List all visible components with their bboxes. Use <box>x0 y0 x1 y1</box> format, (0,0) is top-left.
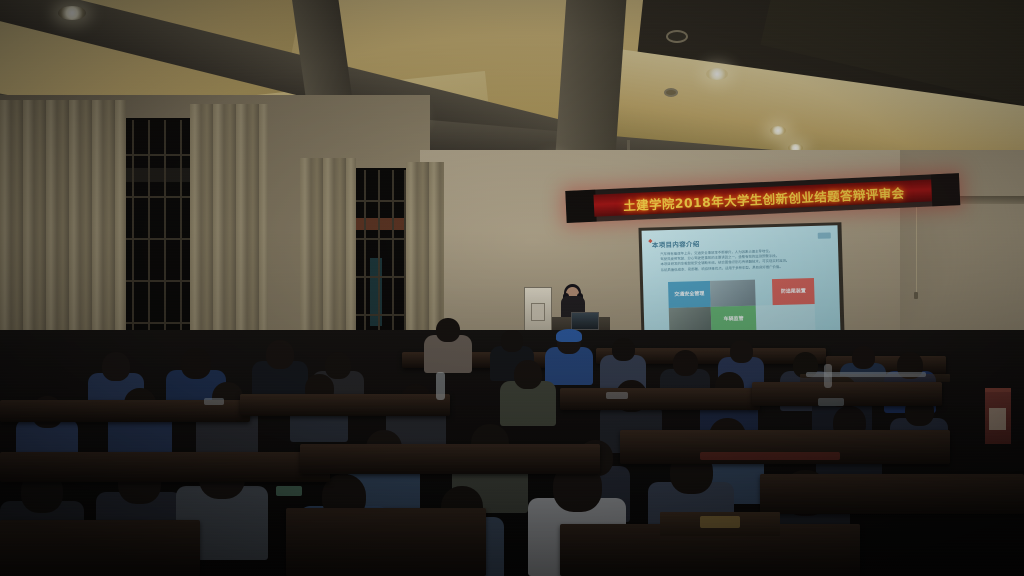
hanging-cord-weight <box>914 292 918 299</box>
slide-tile-green: 车辆监管 <box>711 306 757 333</box>
audience-person-head <box>501 330 523 352</box>
auditorium-photo: 土建学院2018年大学生创新创业结题答辩评审会 本项目内容介绍 汽车保有量逐年上… <box>0 0 1024 576</box>
window-grille-bar <box>120 196 200 198</box>
audience-person-head <box>436 318 460 342</box>
slide-logo-icon <box>818 232 831 238</box>
ceiling-downlight-icon <box>58 6 86 20</box>
audience-person-head <box>266 340 294 369</box>
ceiling-downlight-icon <box>770 126 786 135</box>
window-grille-bar <box>352 200 412 202</box>
projection-screen: 本项目内容介绍 汽车保有量逐年上升，交通安全事故率不断攀升，人为因素占据主导地位… <box>642 225 841 336</box>
paper-glint <box>276 486 302 496</box>
bottle-highlight <box>824 364 832 388</box>
window-grille-bar <box>120 238 200 240</box>
desk-item-highlight <box>700 516 740 528</box>
slide-tile-blue: 交通安全管理 <box>668 281 711 308</box>
paper-glint <box>818 398 844 406</box>
window-grille-bar <box>120 154 200 156</box>
slide-tile-photo <box>710 280 756 307</box>
audience-person-head <box>514 360 542 389</box>
audience-person-cap <box>556 329 582 342</box>
bench-row <box>560 388 760 410</box>
ceiling-downlight-icon <box>706 68 728 80</box>
window-grille-bar <box>352 238 412 240</box>
slide-tile-blank <box>756 304 816 332</box>
electrical-cabinet-panel <box>531 303 545 321</box>
audience-person-head <box>612 338 635 361</box>
audience-person-head <box>102 352 130 381</box>
bench-row <box>0 452 330 482</box>
led-banner-text: 土建学院2018年大学生创新创业结题答辩评审会 <box>623 182 905 214</box>
slide-body-text: 汽车保有量逐年上升，交通安全事故率不断攀升，人为因素占据主导地位。 驾驶员疲劳驾… <box>660 248 829 273</box>
slide-title: 本项目内容介绍 <box>652 238 700 249</box>
bottle-highlight <box>436 372 445 400</box>
bench-row <box>240 394 450 416</box>
audience-person-head <box>181 348 211 379</box>
slide-tile-red: 防追尾装置 <box>772 278 815 305</box>
audience-person-head <box>673 350 698 376</box>
waste-bin-label <box>989 408 1006 430</box>
window-glow <box>126 168 194 182</box>
window-grille-bar <box>352 276 412 278</box>
paper-glint <box>606 392 628 399</box>
bench-row <box>760 474 1024 514</box>
audience-person-head <box>730 340 753 363</box>
podium-laptop <box>571 312 599 330</box>
audience-person-head <box>325 352 351 379</box>
paper-glint <box>204 398 224 405</box>
ceiling-ring-light-icon <box>664 88 678 97</box>
window-grille-bar <box>120 322 200 324</box>
banner-frame-right <box>931 173 960 206</box>
audience-person-head <box>852 346 875 369</box>
banner-frame-left <box>565 190 596 223</box>
ceiling-ring-light-icon <box>666 30 688 43</box>
hanging-cord <box>916 206 917 294</box>
bench-row <box>752 382 942 406</box>
bench-row <box>286 508 486 576</box>
window-grille-bar <box>120 280 200 282</box>
window-grille-bar <box>352 314 412 316</box>
bench-edge-highlight <box>700 452 840 460</box>
bench-row <box>300 444 600 474</box>
bench-row <box>0 520 200 576</box>
